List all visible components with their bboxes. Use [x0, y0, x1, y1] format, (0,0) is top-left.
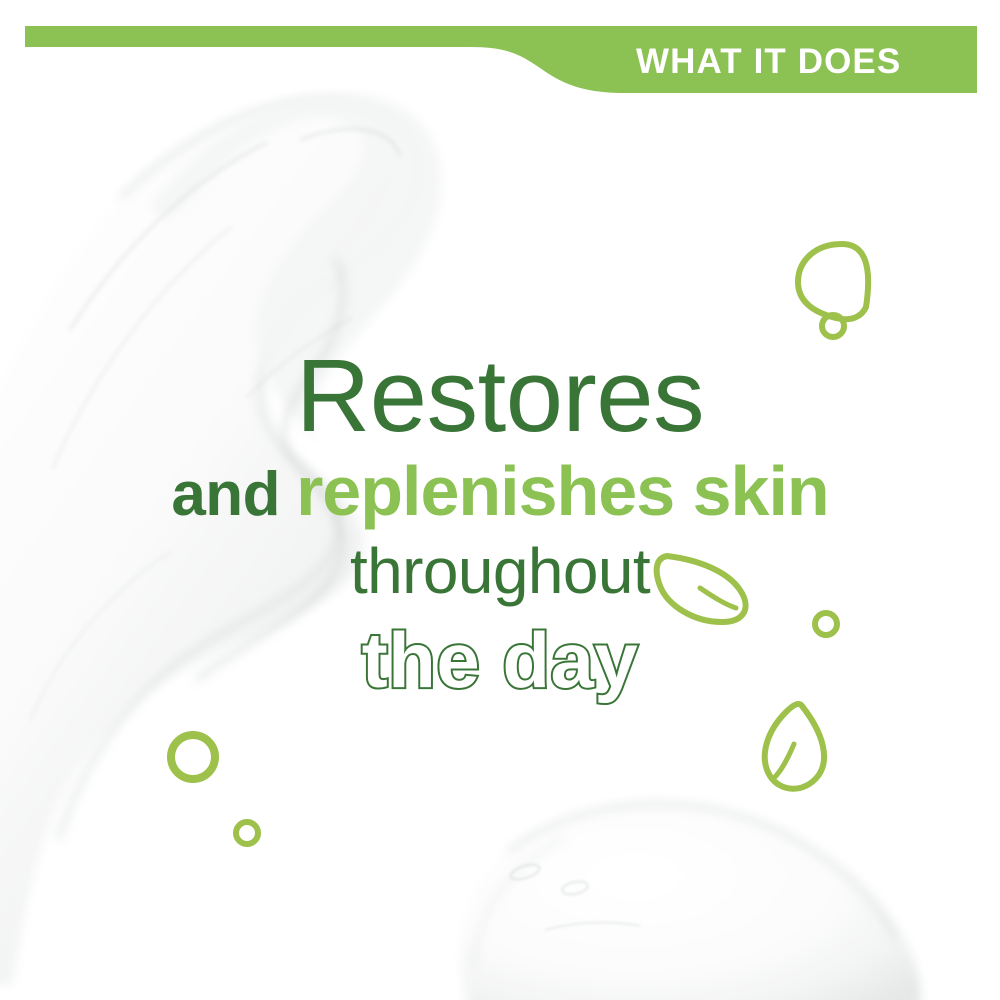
- droplet-leaf-top-right-icon: [798, 244, 868, 319]
- headline-line-2: andreplenishes skin: [0, 452, 1000, 530]
- leaf-bottom-right-icon: [765, 704, 824, 789]
- headline-word-and: and: [171, 460, 280, 529]
- marketing-graphic-canvas: WHAT IT DOES Restores andreplenishes ski…: [0, 0, 1000, 1000]
- headline-word-replenishes-skin: replenishes skin: [296, 452, 829, 530]
- headline-line-1: Restores: [0, 340, 1000, 452]
- headline-line-4-outlined: the day: [0, 612, 1000, 708]
- circle-small-bottom-left-icon: [236, 822, 258, 844]
- circle-large-bottom-left-icon: [171, 735, 215, 779]
- headline-line-3: throughout: [0, 530, 1000, 612]
- headline-block: Restores andreplenishes skin throughout …: [0, 340, 1000, 708]
